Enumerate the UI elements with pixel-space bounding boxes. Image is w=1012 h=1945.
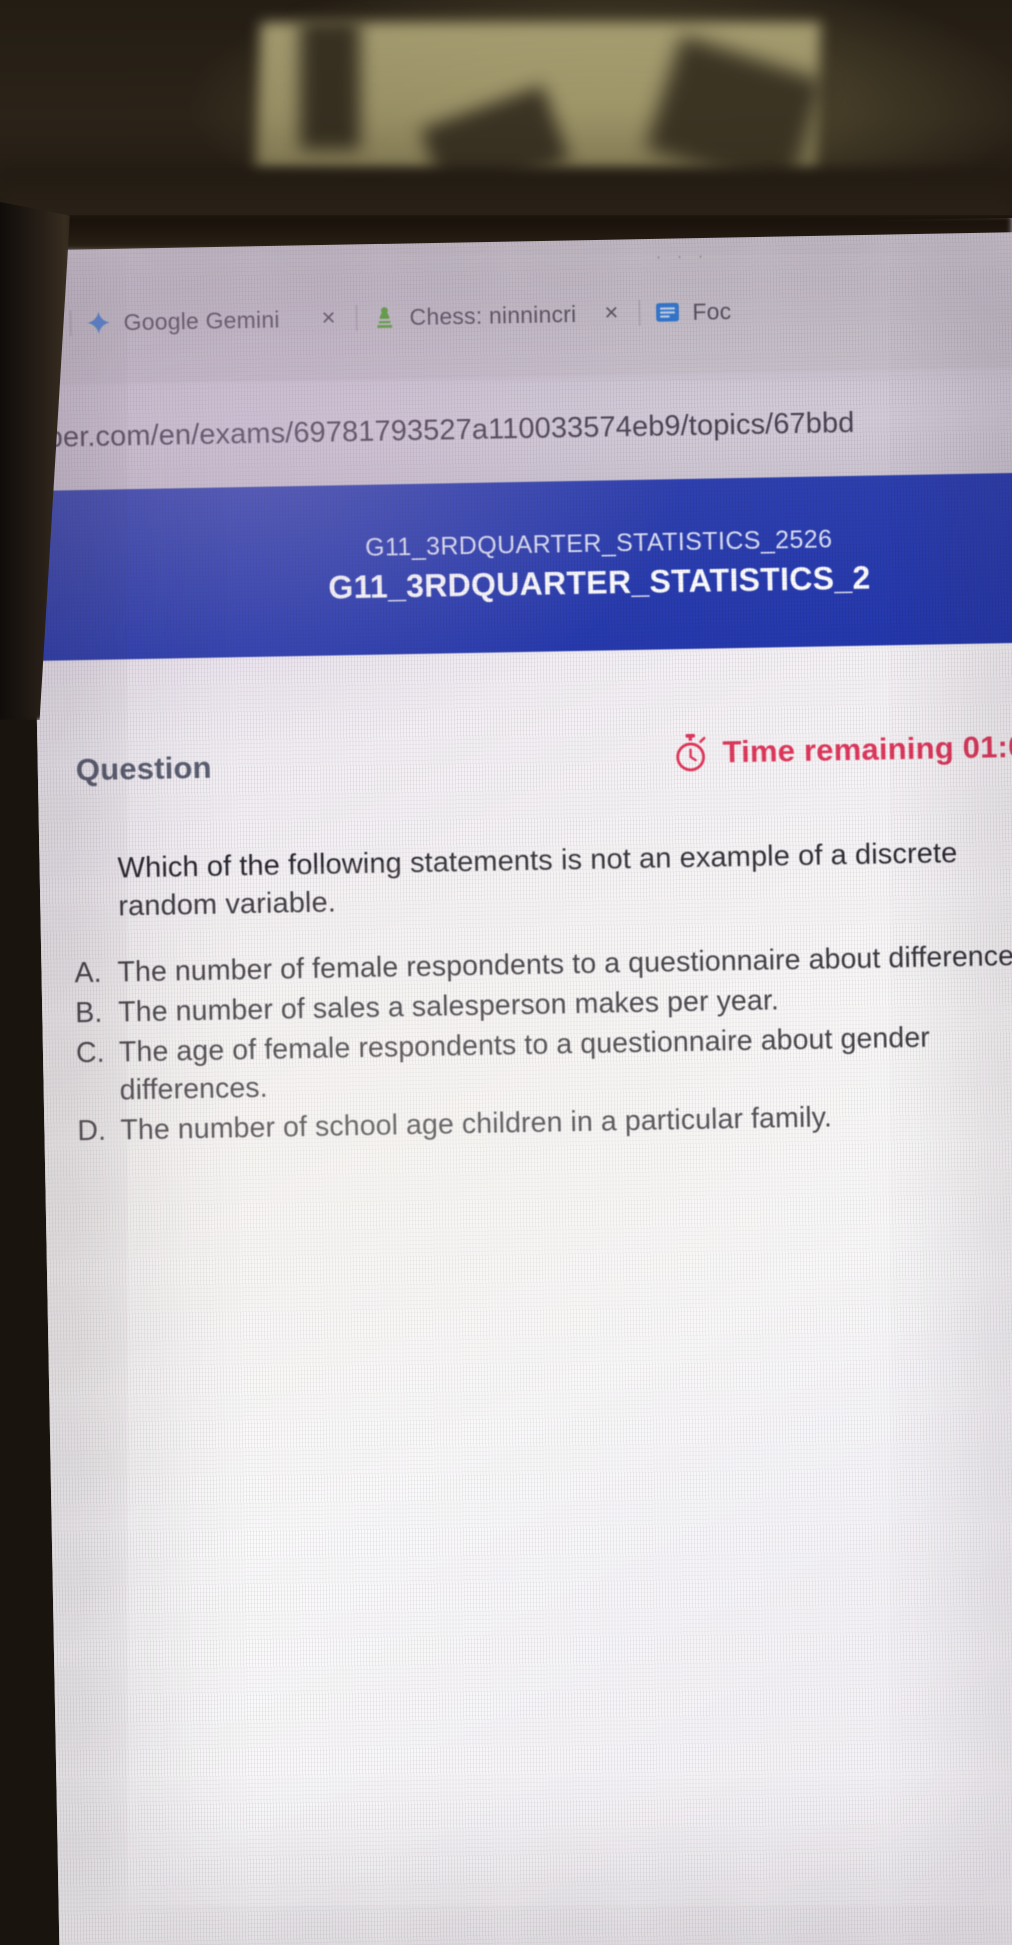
monitor-screen: · · · × Google Gemini × (28, 217, 1012, 1945)
time-remaining: Time remaining 01:0 (672, 727, 1012, 773)
tab-close-icon-2[interactable]: × (598, 301, 624, 325)
tab-overflow-icon[interactable]: · · · (655, 246, 708, 268)
chess-pawn-icon (371, 304, 397, 330)
answer-choice-list: A. The number of female respondents to a… (74, 937, 1012, 1152)
tab-divider-0 (69, 310, 71, 336)
exam-header-banner: G11_3RDQUARTER_STATISTICS_2526 G11_3RDQU… (33, 472, 1012, 660)
tab-title-gemini: Google Gemini (123, 306, 279, 336)
blue-form-icon (654, 299, 680, 325)
browser-tab-chess[interactable]: Chess: ninnincri (371, 300, 576, 331)
exam-title: G11_3RDQUARTER_STATISTICS_2 (328, 560, 871, 607)
tab-divider-2 (638, 300, 640, 326)
exam-breadcrumb: G11_3RDQUARTER_STATISTICS_2526 (365, 525, 833, 563)
question-toolbar: Question Time rema (37, 722, 1012, 800)
browser-tab-foc[interactable]: Foc (654, 298, 731, 326)
tab-row: × Google Gemini × (29, 277, 1012, 351)
tab-title-chess: Chess: ninnincri (409, 300, 576, 330)
question-page-body: Question Time rema (36, 642, 1012, 1945)
gemini-sparkle-icon (85, 309, 111, 335)
stopwatch-icon (672, 733, 709, 774)
answer-choice-c-key: C. (76, 1034, 107, 1072)
time-remaining-text: Time remaining 01:0 (722, 729, 1012, 771)
answer-choice-a-key: A. (74, 955, 105, 993)
address-bar[interactable]: uipper.com/en/exams/69781793527a11003357… (31, 367, 1012, 490)
tab-divider-1 (355, 305, 357, 331)
answer-choice-d-key: D. (77, 1112, 108, 1150)
tab-title-foc: Foc (692, 298, 731, 326)
tab-close-icon-1[interactable]: × (315, 306, 341, 330)
question-section-label: Question (75, 750, 212, 788)
answer-choice-c[interactable]: C. The age of female respondents to a qu… (76, 1017, 1012, 1111)
room-dark-object-left (300, 20, 360, 150)
answer-choice-b-key: B. (75, 995, 106, 1033)
url-text: uipper.com/en/exams/69781793527a11003357… (28, 407, 855, 456)
answer-choice-c-text: The age of female respondents to a quest… (119, 1017, 1012, 1110)
photo-of-monitor: · · · × Google Gemini × (0, 0, 1012, 1945)
browser-tab-gemini[interactable]: Google Gemini (85, 306, 279, 337)
question-stem: Which of the following statements is not… (117, 832, 1012, 926)
